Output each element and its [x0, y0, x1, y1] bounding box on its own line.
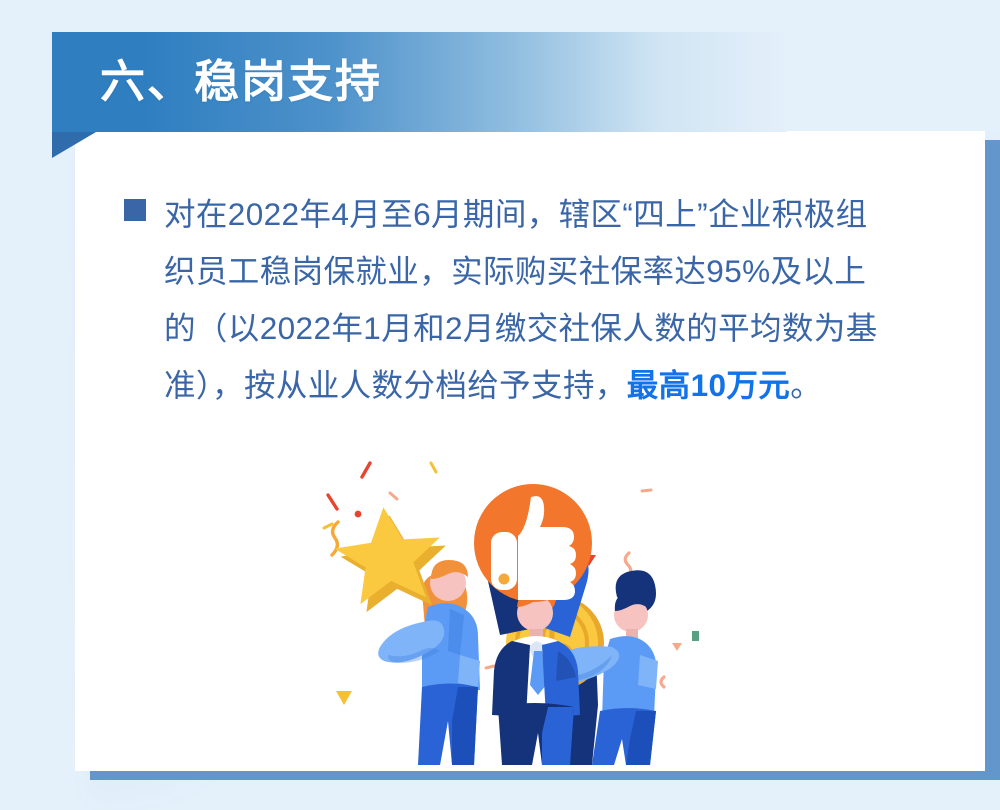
celebration-illustration [300, 455, 730, 760]
page-title: 六、稳岗支持 [100, 52, 382, 112]
paragraph-highlight-max-subsidy: 最高10万元 [627, 367, 790, 403]
policy-paragraph: 对在2022年4月至6月期间，辖区“四上”企业积极组织员工稳岗保就业，实际购买社… [164, 186, 896, 414]
body-text-block: 对在2022年4月至6月期间，辖区“四上”企业积极组织员工稳岗保就业，实际购买社… [124, 186, 896, 414]
illustration-svg [300, 455, 730, 765]
bullet-square-icon [124, 199, 146, 221]
female-figure-left [331, 502, 480, 765]
infographic-page: 六、稳岗支持 对在2022年4月至6月期间，辖区“四上”企业积极组织员工稳岗保就… [0, 0, 1000, 810]
paragraph-plain-part-2: 。 [790, 367, 822, 403]
ribbon-fold-triangle [52, 132, 96, 158]
thumbs-up-badge [474, 484, 592, 602]
